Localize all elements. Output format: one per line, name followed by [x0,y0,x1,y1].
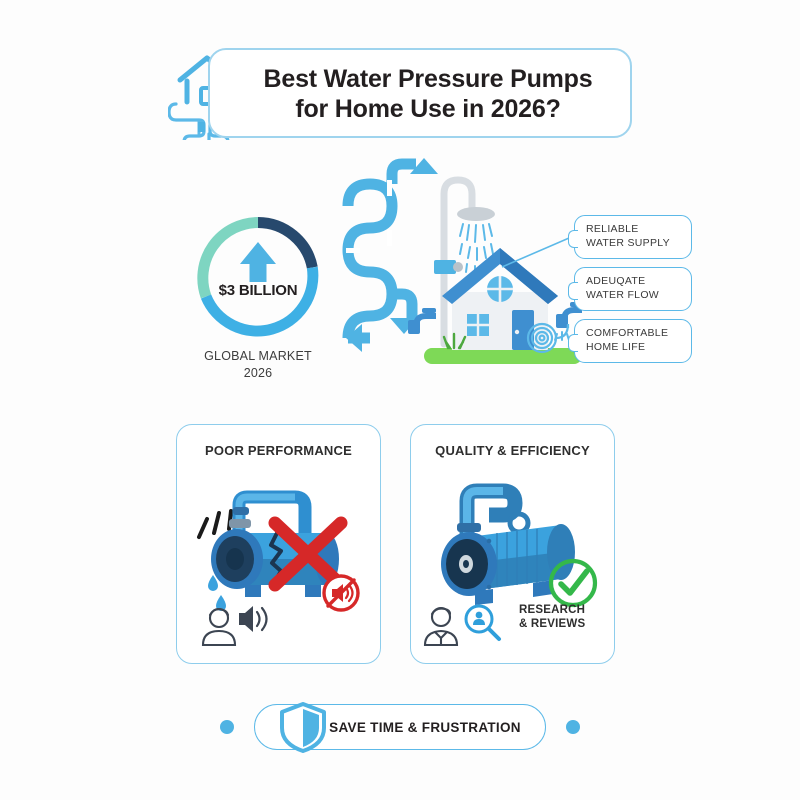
card-quality-efficiency[interactable]: QUALITY & EFFICIENCY [410,424,615,664]
card-footer: RESEARCH & REVIEWS [411,601,614,653]
up-arrow-icon [240,242,276,282]
cracked-pump-icon [177,467,380,617]
callout-adequate-water-flow[interactable]: ADEUQATE WATER FLOW [574,267,692,311]
person-speaker-icon [177,601,382,653]
healthy-pump-icon [411,467,614,617]
market-caption-line-2: 2026 [186,365,330,382]
header: Best Water Pressure Pumps for Home Use i… [168,48,632,138]
callout-reliable-water-supply[interactable]: RELIABLE WATER SUPPLY [574,215,692,259]
callout-line-1: RELIABLE [586,223,639,237]
card-footer [177,601,380,653]
callout-line-1: ADEUQATE [586,275,645,289]
market-caption-line-1: GLOBAL MARKET [186,348,330,365]
card-title: POOR PERFORMANCE [177,443,380,458]
callout-line-2: HOME LIFE [586,341,645,355]
person-suit-icon [425,608,457,645]
page-title: Best Water Pressure Pumps for Home Use i… [240,60,616,128]
card-title: QUALITY & EFFICIENCY [411,443,614,458]
infographic-canvas: Best Water Pressure Pumps for Home Use i… [0,0,800,800]
magnifier-person-icon [466,606,499,639]
green-check-icon [551,561,595,605]
footer-text: SAVE TIME & FRUSTRATION [316,704,534,750]
shower-valve [434,260,456,274]
card-foot-line-2: & REVIEWS [519,617,585,631]
card-poor-performance[interactable]: POOR PERFORMANCE [176,424,381,664]
bullet-dot-right [566,720,580,734]
market-caption: GLOBAL MARKET 2026 [186,348,330,382]
bullet-dot-left [220,720,234,734]
card-foot-line-1: RESEARCH [519,603,585,617]
callout-comfortable-home-life[interactable]: COMFORTABLE HOME LIFE [574,319,692,363]
callout-line-2: WATER FLOW [586,289,659,303]
market-donut-chart [194,214,322,342]
page-title-line-2: for Home Use in 2026? [295,94,560,125]
footer-banner: SAVE TIME & FRUSTRATION [236,704,564,750]
grass-strip [424,348,582,364]
callout-line-2: WATER SUPPLY [586,237,670,251]
page-title-line-1: Best Water Pressure Pumps [264,64,593,95]
market-value: $3 BILLION [194,282,322,299]
global-market-stat: $3 BILLION GLOBAL MARKET 2026 [186,214,330,382]
callout-line-1: COMFORTABLE [586,327,668,341]
